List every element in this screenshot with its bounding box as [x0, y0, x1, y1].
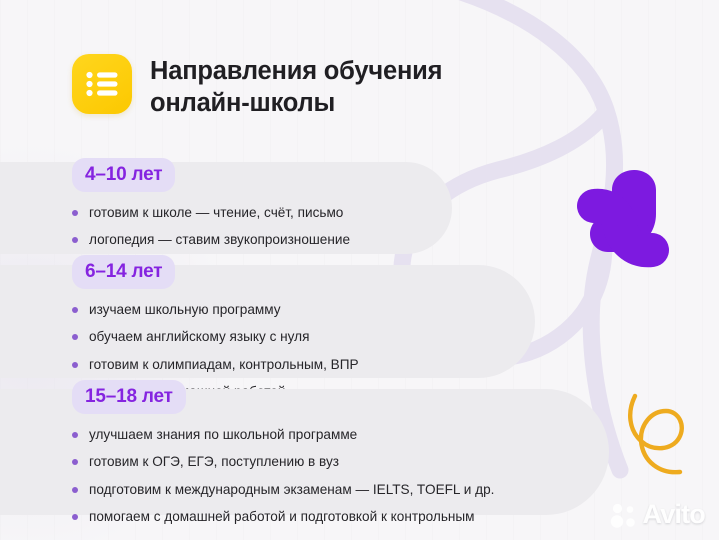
list-item: готовим к ОГЭ, ЕГЭ, поступлению в вуз	[72, 452, 609, 471]
bullet-list-4-10: готовим к школе — чтение, счёт, письмо л…	[72, 203, 452, 250]
bullet-dot-icon	[72, 237, 78, 243]
bullet-dot-icon	[72, 487, 78, 493]
bullet-dot-icon	[72, 514, 78, 520]
bullet-dot-icon	[72, 362, 78, 368]
list-item: улучшаем знания по школьной программе	[72, 425, 609, 444]
list-item-label: помогаем с домашней работой и подготовко…	[89, 509, 475, 524]
list-item-label: готовим к олимпиадам, контрольным, ВПР	[89, 357, 359, 372]
section-card-15-18: 15–18 лет улучшаем знания по школьной пр…	[0, 389, 609, 515]
age-badge-4-10: 4–10 лет	[72, 158, 175, 192]
poster-header: Направления обучения онлайн-школы	[72, 54, 442, 119]
bullet-dot-icon	[72, 307, 78, 313]
list-item: изучаем школьную программу	[72, 300, 535, 319]
list-item: помогаем с домашней работой и подготовко…	[72, 507, 609, 526]
list-item-label: улучшаем знания по школьной программе	[89, 427, 357, 442]
bullet-dot-icon	[72, 210, 78, 216]
bullet-list-15-18: улучшаем знания по школьной программе го…	[72, 425, 609, 526]
list-item: готовим к олимпиадам, контрольным, ВПР	[72, 355, 535, 374]
list-item: подготовим к международным экзаменам — I…	[72, 480, 609, 499]
avito-watermark-text: Avito	[643, 501, 706, 528]
bullet-dot-icon	[72, 334, 78, 340]
age-badge-15-18: 15–18 лет	[72, 380, 186, 414]
page-title: Направления обучения онлайн-школы	[150, 54, 442, 119]
bullet-dot-icon	[72, 459, 78, 465]
list-item: готовим к школе — чтение, счёт, письмо	[72, 203, 452, 222]
avito-dots-logo	[609, 502, 639, 528]
bullet-dot-icon	[72, 432, 78, 438]
list-item-label: готовим к ОГЭ, ЕГЭ, поступлению в вуз	[89, 454, 339, 469]
section-card-6-14: 6–14 лет изучаем школьную программу обуч…	[0, 265, 535, 378]
list-item: логопедия — ставим звукопроизношение	[72, 230, 452, 249]
poster-canvas: Направления обучения онлайн-школы 4–10 л…	[0, 0, 719, 540]
list-item-label: изучаем школьную программу	[89, 302, 281, 317]
bulleted-list-icon	[72, 54, 132, 114]
section-card-4-10: 4–10 лет готовим к школе — чтение, счёт,…	[0, 162, 452, 254]
list-item: обучаем английскому языку с нуля	[72, 327, 535, 346]
avito-watermark: Avito	[609, 501, 706, 528]
list-item-label: обучаем английскому языку с нуля	[89, 329, 309, 344]
list-item-label: логопедия — ставим звукопроизношение	[89, 232, 350, 247]
age-badge-6-14: 6–14 лет	[72, 255, 175, 289]
list-item-label: подготовим к международным экзаменам — I…	[89, 482, 494, 497]
list-item-label: готовим к школе — чтение, счёт, письмо	[89, 205, 343, 220]
